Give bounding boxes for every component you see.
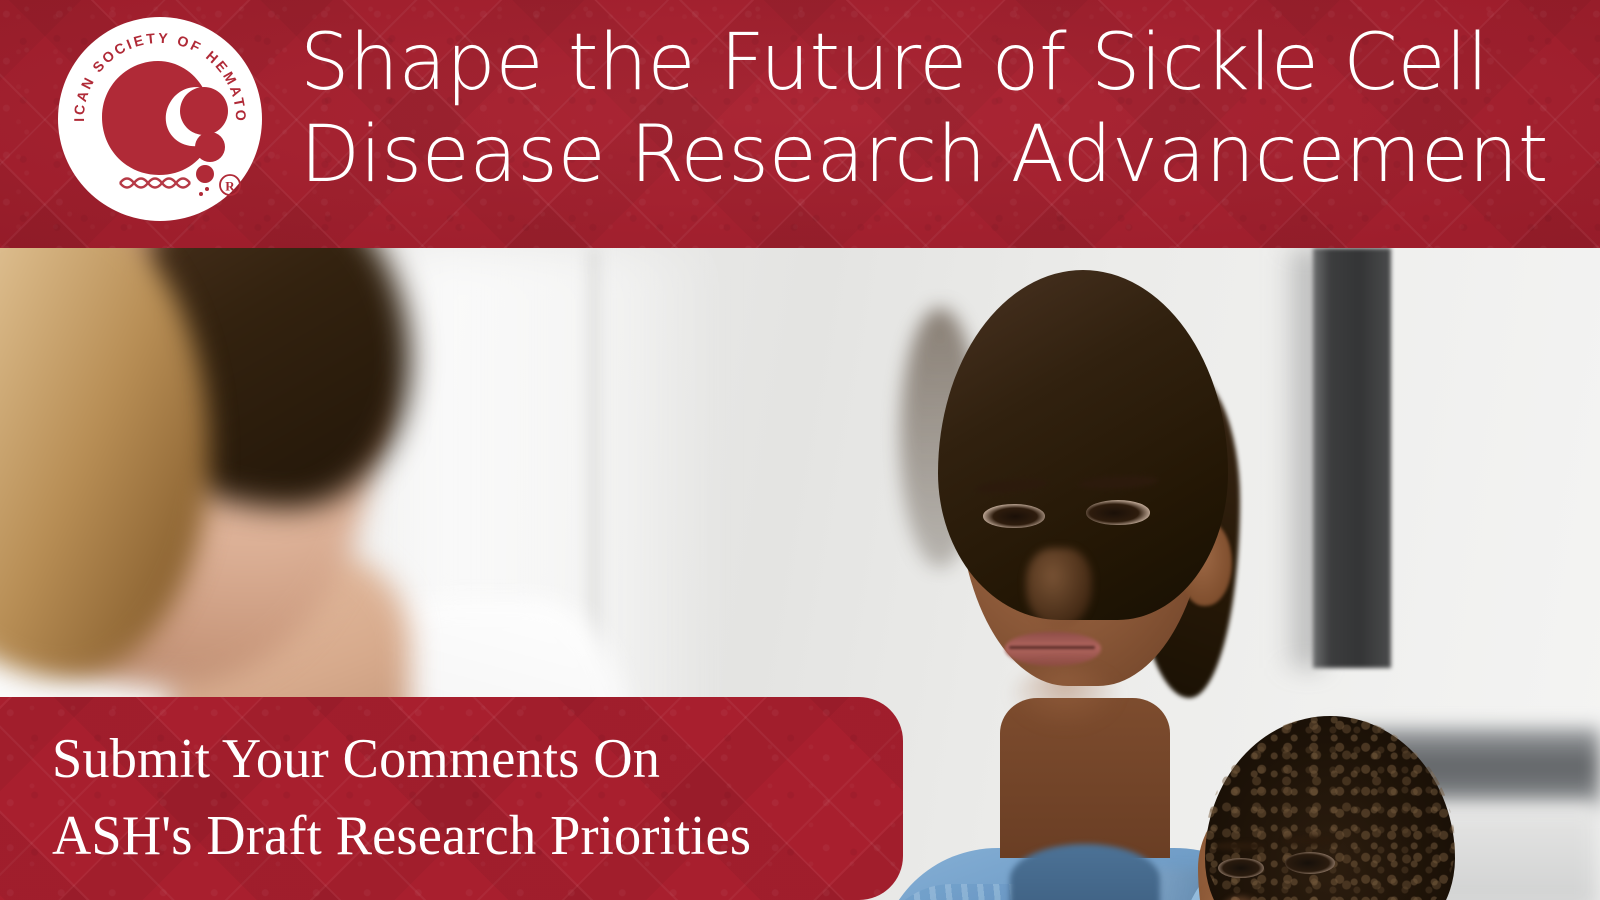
baby-eyebrow-right bbox=[1283, 836, 1337, 845]
cta-line-2: ASH's Draft Research Priorities bbox=[52, 798, 751, 875]
baby-eye-left bbox=[1218, 858, 1264, 878]
photo-door-frame bbox=[1313, 248, 1391, 668]
ash-logo[interactable]: AMERICAN SOCIETY OF HEMATOLOGY R bbox=[58, 17, 262, 221]
mother-lips bbox=[1005, 632, 1101, 666]
cta-text: Submit Your Comments On ASH's Draft Rese… bbox=[52, 721, 751, 875]
baby-eyebrow-left bbox=[1214, 842, 1264, 850]
mother-lip-line bbox=[1009, 646, 1095, 649]
baby-eye-right bbox=[1285, 852, 1335, 874]
svg-text:R: R bbox=[225, 179, 235, 194]
headline-line-2: Disease Research Advancement bbox=[300, 109, 1590, 201]
mother-chin bbox=[1010, 668, 1120, 728]
promo-banner-root: AMERICAN SOCIETY OF HEMATOLOGY R Shape t… bbox=[0, 0, 1600, 900]
headline-line-1: Shape the Future of Sickle Cell bbox=[300, 17, 1590, 109]
page-title: Shape the Future of Sickle Cell Disease … bbox=[300, 17, 1590, 201]
mother-nose bbox=[1026, 548, 1092, 628]
cta-banner[interactable]: Submit Your Comments On ASH's Draft Rese… bbox=[0, 697, 903, 900]
cta-line-1: Submit Your Comments On bbox=[52, 721, 751, 798]
mother-eye-right bbox=[1086, 500, 1150, 525]
mother-eye-left bbox=[983, 504, 1045, 528]
